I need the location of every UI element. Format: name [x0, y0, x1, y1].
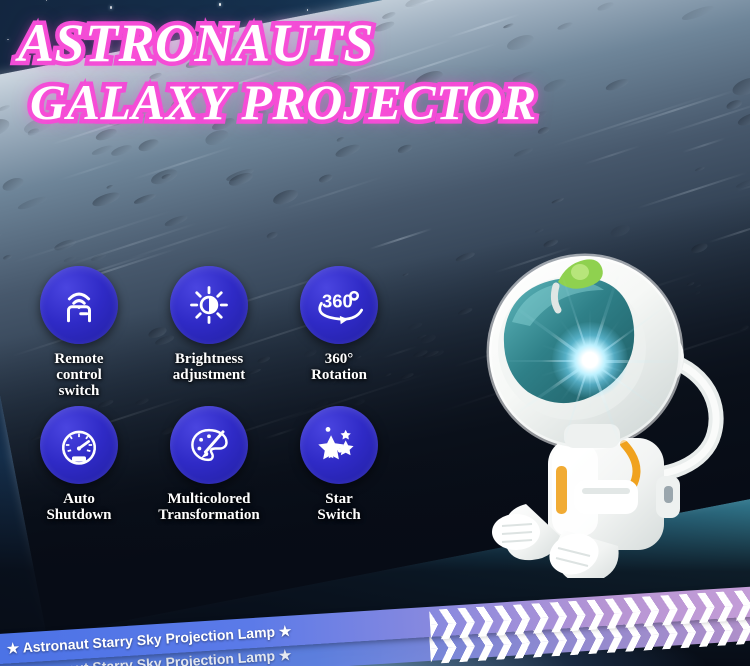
remote-control-icon — [58, 284, 100, 326]
moon-streak — [612, 89, 736, 131]
feature-icon-circle — [170, 266, 248, 344]
moon-crater — [334, 142, 361, 159]
moon-crater — [557, 21, 573, 31]
astronaut-illustration — [452, 248, 732, 578]
moon-crater — [1, 176, 26, 194]
star — [7, 39, 9, 41]
moon-streak — [553, 95, 709, 148]
moon-crater — [106, 184, 114, 189]
moon-streak — [58, 158, 125, 182]
moon-crater — [91, 144, 113, 157]
feature-icon-circle — [300, 406, 378, 484]
moon-streak — [700, 0, 750, 2]
moon-crater — [695, 166, 706, 172]
feature-star-switch[interactable]: Star Switch — [274, 406, 404, 523]
feature-multicolored-transformation[interactable]: Multicolored Transformation — [144, 406, 274, 523]
star — [219, 3, 222, 6]
feature-360-rotation[interactable]: 360 360° Rotation — [274, 266, 404, 400]
moon-crater — [133, 192, 157, 205]
paint-palette-icon — [188, 424, 230, 466]
feature-icon-circle — [40, 406, 118, 484]
title-line-2: GALAXY PROJECTOR — [30, 78, 537, 126]
feature-row-1: Remote control switch — [14, 266, 404, 400]
feature-label: 360° Rotation — [311, 351, 367, 383]
moon-crater — [604, 77, 629, 92]
moon-crater — [513, 146, 534, 158]
moon-crater — [543, 77, 569, 94]
product-poster: ASTRONAUTS GALAXY PROJECTOR — [0, 0, 750, 666]
astronaut-projector-image — [452, 248, 732, 578]
feature-icon-circle: 360 — [300, 266, 378, 344]
bottom-banner: ★ Astronaut Starry Sky Projection Lamp ★… — [0, 546, 750, 666]
moon-crater — [337, 137, 345, 143]
moon-streak — [128, 224, 233, 260]
poster-title: ASTRONAUTS GALAXY PROJECTOR — [18, 18, 537, 126]
moon-streak — [583, 145, 640, 165]
stars-icon — [317, 423, 361, 467]
moon-crater — [266, 230, 279, 239]
moon-streak — [133, 146, 234, 181]
star — [110, 6, 112, 8]
rotation-360-label: 360 — [322, 291, 353, 312]
moon-crater — [736, 109, 750, 128]
feature-label: Multicolored Transformation — [158, 491, 259, 523]
feature-icon-circle — [170, 406, 248, 484]
rotation-360-icon: 360 — [313, 284, 365, 326]
moon-crater — [597, 0, 615, 11]
speedometer-timer-icon — [58, 424, 100, 466]
moon-streak — [682, 137, 725, 153]
moon-crater — [0, 115, 12, 142]
feature-remote-control[interactable]: Remote control switch — [14, 266, 144, 400]
moon-crater — [681, 4, 715, 23]
moon-crater — [397, 143, 414, 155]
moon-crater — [137, 137, 160, 154]
moon-crater — [551, 197, 564, 205]
moon-crater — [91, 190, 121, 209]
moon-crater — [3, 253, 13, 260]
moon-crater — [0, 104, 11, 112]
feature-label: Auto Shutdown — [46, 491, 111, 523]
feature-label: Remote control switch — [54, 351, 103, 400]
moon-crater — [318, 173, 333, 184]
moon-streak — [370, 228, 434, 250]
feature-list: Remote control switch — [14, 266, 404, 523]
feature-row-2: Auto Shutdown — [14, 406, 404, 523]
moon-crater — [110, 143, 133, 158]
moon-crater — [537, 125, 551, 135]
feature-label: Brightness adjustment — [173, 351, 246, 383]
feature-auto-shutdown[interactable]: Auto Shutdown — [14, 406, 144, 523]
feature-brightness-adjustment[interactable]: Brightness adjustment — [144, 266, 274, 400]
moon-crater — [731, 74, 750, 99]
feature-icon-circle — [40, 266, 118, 344]
title-line-1: ASTRONAUTS — [18, 18, 537, 70]
star — [307, 9, 308, 10]
feature-label: Star Switch — [317, 491, 360, 523]
moon-crater — [16, 194, 47, 211]
star — [46, 0, 47, 1]
brightness-sun-icon — [188, 284, 230, 326]
moon-crater — [0, 233, 1, 241]
